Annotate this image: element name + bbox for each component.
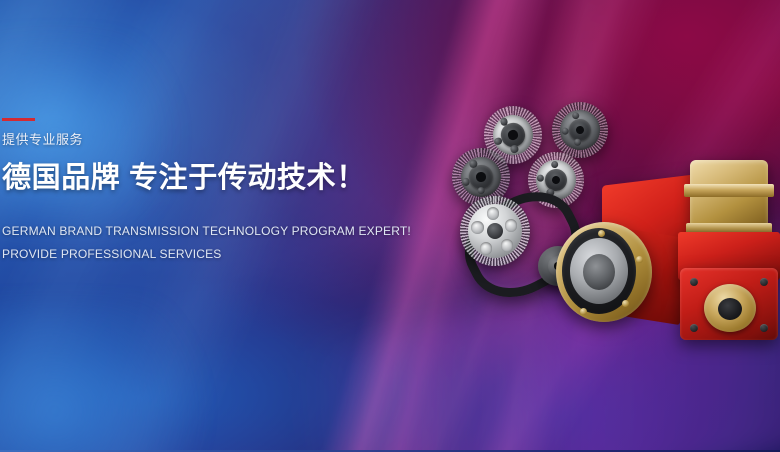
promo-banner: 提供专业服务 德国品牌 专注于传动技术！ GERMAN BRAND TRANSM… (0, 0, 780, 452)
eyebrow-text: 提供专业服务 (2, 133, 432, 146)
banner-copy: 提供专业服务 德国品牌 专注于传动技术！ GERMAN BRAND TRANSM… (2, 118, 432, 266)
page-title: 德国品牌 专注于传动技术！ (2, 162, 432, 194)
subtitle-line-1: GERMAN BRAND TRANSMISSION TECHNOLOGY PRO… (2, 220, 419, 243)
accent-rule (2, 118, 35, 121)
subtitle-line-2: PROVIDE PROFESSIONAL SERVICES (2, 243, 419, 266)
